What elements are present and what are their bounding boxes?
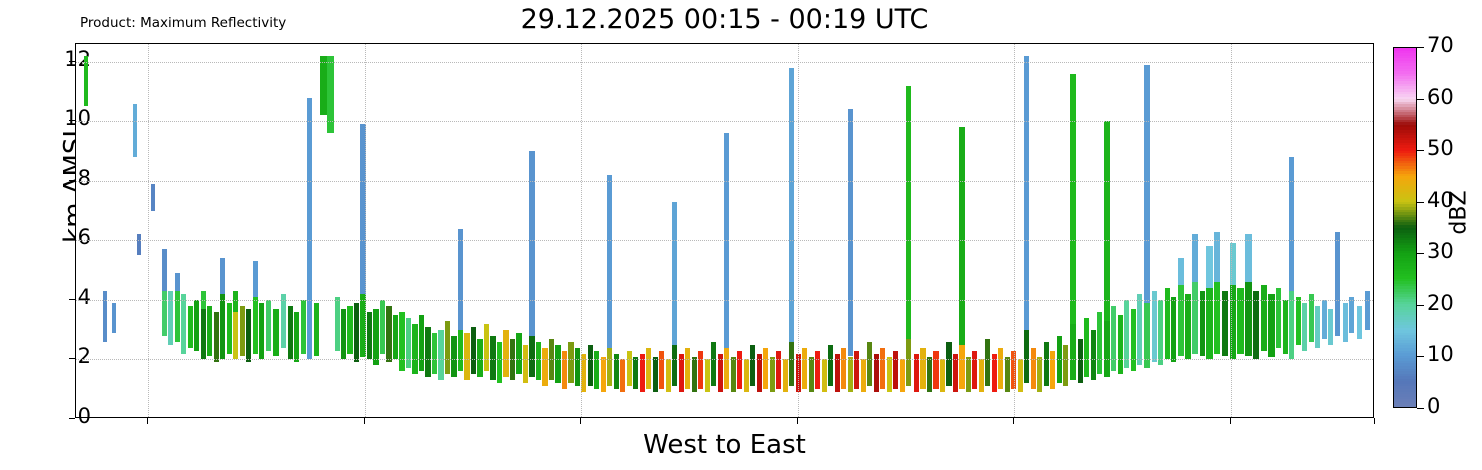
- colorbar-tick-mark: [1417, 408, 1424, 409]
- radar-column: [112, 44, 116, 417]
- radar-cell: [659, 351, 664, 390]
- radar-cell: [874, 354, 879, 393]
- radar-cell: [393, 315, 398, 360]
- radar-column: [659, 44, 664, 417]
- radar-column: [627, 44, 632, 417]
- radar-cell: [828, 345, 833, 387]
- radar-cell: [1200, 291, 1205, 356]
- radar-column: [992, 44, 997, 417]
- radar-column: [594, 44, 599, 417]
- radar-column: [770, 44, 775, 417]
- colorbar-tick-label: 10: [1427, 342, 1454, 366]
- radar-column: [1253, 44, 1259, 417]
- radar-column: [562, 44, 567, 417]
- radar-cell: [568, 342, 573, 384]
- radar-column: [555, 44, 560, 417]
- radar-cell: [900, 359, 905, 392]
- radar-cell: [770, 357, 775, 393]
- radar-column: [536, 44, 541, 417]
- radar-cell: [360, 124, 365, 294]
- radar-cell: [151, 184, 155, 211]
- radar-column: [84, 44, 89, 417]
- radar-cell: [1343, 303, 1348, 342]
- radar-column: [1091, 44, 1096, 417]
- radar-column: [341, 44, 346, 417]
- radar-column: [1237, 44, 1243, 417]
- x-tick-mark: [364, 418, 365, 424]
- radar-cell: [1335, 232, 1340, 336]
- radar-column: [1245, 44, 1251, 417]
- radar-cell: [1171, 297, 1176, 362]
- radar-cell: [1214, 282, 1220, 353]
- radar-cell: [646, 348, 651, 390]
- radar-column: [966, 44, 971, 417]
- radar-cell: [233, 291, 238, 312]
- radar-column: [653, 44, 658, 417]
- radar-column: [914, 44, 919, 417]
- radar-column: [763, 44, 768, 417]
- radar-column: [711, 44, 716, 417]
- radar-cell: [253, 261, 258, 297]
- radar-column: [1124, 44, 1129, 417]
- radar-cell: [1070, 324, 1076, 381]
- radar-column: [1276, 44, 1281, 417]
- product-label: Product: Maximum Reflectivity: [80, 15, 286, 31]
- radar-column: [809, 44, 814, 417]
- radar-cell: [529, 151, 534, 336]
- radar-cell: [653, 357, 658, 393]
- radar-cell: [490, 336, 495, 381]
- radar-cell: [1349, 297, 1354, 333]
- radar-column: [162, 44, 167, 417]
- radar-cell: [979, 359, 984, 392]
- radar-column: [1289, 44, 1294, 417]
- radar-cell: [914, 354, 919, 393]
- radar-cell: [1144, 303, 1150, 368]
- radar-column: [848, 44, 853, 417]
- radar-column: [1214, 44, 1220, 417]
- radar-cell: [601, 357, 606, 393]
- radar-column: [320, 44, 326, 417]
- radar-column: [399, 44, 404, 417]
- radar-cell: [253, 297, 258, 354]
- radar-column: [705, 44, 710, 417]
- radar-cell: [1315, 306, 1320, 348]
- radar-column: [692, 44, 697, 417]
- radar-cell: [307, 98, 312, 360]
- radar-cell: [927, 357, 932, 393]
- radar-column: [214, 44, 219, 417]
- radar-cell: [1328, 309, 1333, 345]
- radar-column: [1222, 44, 1228, 417]
- radar-cell: [1111, 306, 1116, 371]
- radar-column: [1283, 44, 1288, 417]
- radar-column: [880, 44, 885, 417]
- radar-column: [724, 44, 729, 417]
- radar-cell: [992, 354, 997, 393]
- radar-cell: [724, 348, 729, 390]
- radar-cell: [523, 345, 528, 384]
- radar-cross-section-figure: 29.12.2025 00:15 - 00:19 UTC Product: Ma…: [0, 0, 1482, 470]
- radar-cell: [477, 339, 482, 378]
- radar-column: [1200, 44, 1205, 417]
- radar-cell: [1063, 345, 1068, 387]
- radar-column: [347, 44, 352, 417]
- colorbar-segment: [1394, 404, 1416, 407]
- radar-column: [1118, 44, 1123, 417]
- radar-cell: [246, 309, 251, 363]
- radar-column: [335, 44, 340, 417]
- radar-cell: [776, 351, 781, 390]
- radar-column: [796, 44, 801, 417]
- radar-column: [633, 44, 638, 417]
- radar-cell: [666, 359, 671, 392]
- radar-cell: [906, 86, 911, 339]
- radar-column: [861, 44, 866, 417]
- radar-cell: [633, 357, 638, 390]
- x-tick-mark: [797, 418, 798, 424]
- radar-cell: [588, 345, 593, 387]
- radar-cell: [194, 300, 199, 351]
- radar-cell: [445, 321, 450, 375]
- radar-cell: [953, 354, 958, 393]
- radar-cell: [451, 336, 456, 378]
- colorbar-tick-label: 70: [1427, 33, 1454, 57]
- radar-cell: [516, 333, 521, 375]
- colorbar-tick-mark: [1417, 356, 1424, 357]
- radar-column: [137, 44, 141, 417]
- radar-cell: [412, 324, 417, 375]
- radar-column: [568, 44, 573, 417]
- radar-cell: [301, 300, 306, 354]
- radar-column: [1302, 44, 1307, 417]
- radar-cell: [327, 56, 335, 133]
- radar-column: [103, 44, 107, 417]
- radar-cell: [536, 342, 541, 381]
- radar-column: [927, 44, 932, 417]
- radar-cell: [1152, 291, 1157, 362]
- radar-column: [1322, 44, 1327, 417]
- radar-cell: [607, 175, 612, 348]
- radar-column: [464, 44, 469, 417]
- radar-cell: [1118, 315, 1123, 375]
- radar-cell: [1144, 65, 1150, 303]
- radar-column: [1031, 44, 1036, 417]
- radar-cell: [672, 345, 677, 387]
- radar-cell: [627, 351, 632, 387]
- radar-cell: [1024, 56, 1029, 330]
- radar-column: [419, 44, 424, 417]
- radar-column: [933, 44, 938, 417]
- radar-cell: [84, 56, 89, 107]
- radar-column: [887, 44, 892, 417]
- radar-column: [484, 44, 489, 417]
- radar-column: [301, 44, 306, 417]
- colorbar-tick-mark: [1417, 253, 1424, 254]
- radar-cell: [320, 56, 326, 116]
- radar-cell: [581, 354, 586, 393]
- radar-cell: [1050, 351, 1055, 390]
- radar-cell: [594, 351, 599, 390]
- radar-column: [412, 44, 417, 417]
- colorbar-tick-label: 30: [1427, 239, 1454, 263]
- radar-cell: [959, 345, 964, 390]
- radar-cell: [266, 300, 271, 351]
- radar-column: [1349, 44, 1354, 417]
- radar-cell: [188, 306, 193, 348]
- radar-column: [979, 44, 984, 417]
- radar-cell: [1302, 303, 1307, 351]
- radar-cell: [367, 312, 372, 360]
- radar-cell: [620, 359, 625, 392]
- radar-cell: [294, 312, 299, 363]
- radar-cell: [575, 348, 580, 387]
- radar-cell: [966, 357, 971, 393]
- radar-cell: [555, 345, 560, 384]
- radar-column: [1097, 44, 1102, 417]
- radar-cell: [220, 294, 225, 359]
- radar-cell: [273, 309, 278, 357]
- radar-cell: [607, 348, 612, 387]
- radar-column: [1037, 44, 1042, 417]
- radar-column: [367, 44, 372, 417]
- radar-column: [867, 44, 872, 417]
- radar-column: [1178, 44, 1184, 417]
- radar-cell: [1296, 297, 1301, 345]
- radar-cell: [432, 333, 437, 375]
- radar-column: [240, 44, 245, 417]
- radar-cell: [438, 330, 443, 381]
- radar-column: [1111, 44, 1116, 417]
- radar-column: [672, 44, 677, 417]
- radar-column: [874, 44, 879, 417]
- radar-column: [188, 44, 193, 417]
- colorbar-tick-mark: [1417, 99, 1424, 100]
- radar-column: [1268, 44, 1274, 417]
- radar-column: [549, 44, 554, 417]
- radar-column: [646, 44, 651, 417]
- radar-cell: [972, 351, 977, 390]
- radar-column: [940, 44, 945, 417]
- radar-cell: [685, 348, 690, 390]
- radar-column: [835, 44, 840, 417]
- radar-cell: [887, 357, 892, 393]
- radar-column: [510, 44, 515, 417]
- radar-column: [854, 44, 859, 417]
- radar-cell: [510, 339, 515, 381]
- radar-cell: [1206, 246, 1212, 288]
- radar-column: [1131, 44, 1136, 417]
- radar-cell: [162, 249, 167, 291]
- radar-column: [679, 44, 684, 417]
- radar-column: [425, 44, 430, 417]
- colorbar-tick-mark: [1417, 150, 1424, 151]
- plot-area: [75, 43, 1374, 418]
- radar-cell: [281, 294, 286, 348]
- radar-column: [406, 44, 411, 417]
- radar-cell: [1309, 294, 1314, 342]
- radar-column: [1206, 44, 1212, 417]
- radar-cell: [181, 294, 186, 354]
- radar-column: [1057, 44, 1062, 417]
- radar-cell: [1091, 330, 1096, 381]
- radar-column: [1357, 44, 1362, 417]
- radar-column: [220, 44, 225, 417]
- radar-cell: [1158, 300, 1163, 365]
- radar-column: [1024, 44, 1029, 417]
- radar-cell: [1276, 288, 1281, 348]
- radar-column: [175, 44, 180, 417]
- radar-column: [246, 44, 251, 417]
- radar-cell: [233, 312, 238, 360]
- radar-column: [666, 44, 671, 417]
- radar-column: [438, 44, 443, 417]
- radar-cell: [789, 68, 794, 342]
- radar-column: [181, 44, 186, 417]
- radar-cell: [783, 359, 788, 392]
- radar-column: [227, 44, 232, 417]
- radar-column: [1343, 44, 1348, 417]
- colorbar-tick-label: 40: [1427, 188, 1454, 212]
- radar-column: [373, 44, 378, 417]
- radar-column: [253, 44, 258, 417]
- radar-column: [1230, 44, 1236, 417]
- radar-cell: [471, 327, 476, 375]
- radar-cell: [1131, 309, 1136, 372]
- radar-cell: [1322, 300, 1327, 339]
- radar-column: [233, 44, 238, 417]
- radar-column: [288, 44, 293, 417]
- radar-column: [445, 44, 450, 417]
- colorbar-tick-mark: [1417, 202, 1424, 203]
- radar-cell: [207, 306, 212, 357]
- radar-cell: [1222, 291, 1228, 356]
- radar-cell: [796, 354, 801, 393]
- radar-column: [471, 44, 476, 417]
- x-tick-mark: [1374, 418, 1375, 424]
- radar-cell: [1031, 348, 1036, 390]
- radar-cell: [1037, 357, 1042, 393]
- radar-column: [354, 44, 359, 417]
- radar-cell: [484, 324, 489, 372]
- radar-column: [497, 44, 502, 417]
- radar-column: [380, 44, 385, 417]
- radar-cell: [1137, 294, 1142, 365]
- radar-cell: [103, 291, 107, 342]
- radar-cell: [705, 359, 710, 392]
- radar-cell: [406, 318, 411, 369]
- radar-cell: [906, 339, 911, 387]
- radar-cell: [1005, 357, 1010, 393]
- radar-cell: [1214, 232, 1220, 283]
- radar-cell: [175, 291, 180, 342]
- radar-cell: [841, 348, 846, 390]
- radar-column: [168, 44, 173, 417]
- radar-cell: [1230, 243, 1236, 285]
- radar-column: [432, 44, 437, 417]
- x-tick-mark: [1013, 418, 1014, 424]
- radar-column: [1144, 44, 1150, 417]
- radar-cell: [692, 357, 697, 393]
- radar-column: [294, 44, 299, 417]
- radar-cell: [1078, 339, 1083, 384]
- radar-cell: [1261, 285, 1267, 350]
- radar-cell: [959, 127, 964, 344]
- radar-cell: [1253, 291, 1259, 359]
- radar-cell: [335, 297, 340, 351]
- x-tick-mark: [147, 418, 148, 424]
- radar-column: [614, 44, 619, 417]
- radar-cell: [920, 348, 925, 390]
- radar-column: [776, 44, 781, 417]
- radar-column: [1050, 44, 1055, 417]
- radar-cell: [744, 359, 749, 392]
- radar-cell: [1268, 294, 1274, 357]
- radar-cell: [763, 348, 768, 390]
- radar-column: [1044, 44, 1049, 417]
- radar-column: [194, 44, 199, 417]
- x-axis-label: West to East: [75, 430, 1374, 460]
- radar-cell: [848, 109, 853, 356]
- radar-cell: [1192, 234, 1198, 282]
- radar-column: [281, 44, 286, 417]
- radar-column: [259, 44, 264, 417]
- radar-cell: [425, 327, 430, 378]
- radar-cell: [1178, 285, 1184, 356]
- radar-cell: [399, 312, 404, 372]
- radar-cell: [503, 330, 508, 378]
- radar-cell: [998, 348, 1003, 390]
- radar-cell: [757, 354, 762, 393]
- radar-cell: [1365, 291, 1370, 330]
- radar-cell: [1245, 234, 1251, 282]
- radar-cell: [1178, 258, 1184, 285]
- radar-column: [314, 44, 319, 417]
- colorbar-tick-mark: [1417, 305, 1424, 306]
- radar-cell: [1104, 321, 1110, 378]
- radar-column: [601, 44, 606, 417]
- radar-cell: [822, 359, 827, 392]
- radar-cell: [731, 357, 736, 393]
- radar-column: [737, 44, 742, 417]
- radar-column: [946, 44, 951, 417]
- radar-column: [1328, 44, 1333, 417]
- radar-cell: [562, 351, 567, 390]
- radar-column: [1165, 44, 1170, 417]
- radar-cell: [679, 354, 684, 393]
- radar-cell: [861, 359, 866, 392]
- radar-cell: [227, 303, 232, 354]
- radar-column: [207, 44, 212, 417]
- radar-cell: [640, 354, 645, 393]
- radar-column: [327, 44, 335, 417]
- radar-cell: [1024, 330, 1029, 384]
- radar-column: [1158, 44, 1163, 417]
- radar-cell: [1237, 288, 1243, 353]
- radar-cell: [162, 291, 167, 336]
- radar-cell: [614, 354, 619, 390]
- radar-cell: [288, 306, 293, 360]
- radar-cell: [314, 303, 319, 357]
- colorbar: [1393, 47, 1417, 408]
- radar-cell: [848, 357, 853, 393]
- radar-column: [266, 44, 271, 417]
- radar-cell: [201, 309, 206, 360]
- radar-cell: [1070, 74, 1076, 324]
- radar-column: [490, 44, 495, 417]
- colorbar-tick-label: 60: [1427, 85, 1454, 109]
- radar-column: [620, 44, 625, 417]
